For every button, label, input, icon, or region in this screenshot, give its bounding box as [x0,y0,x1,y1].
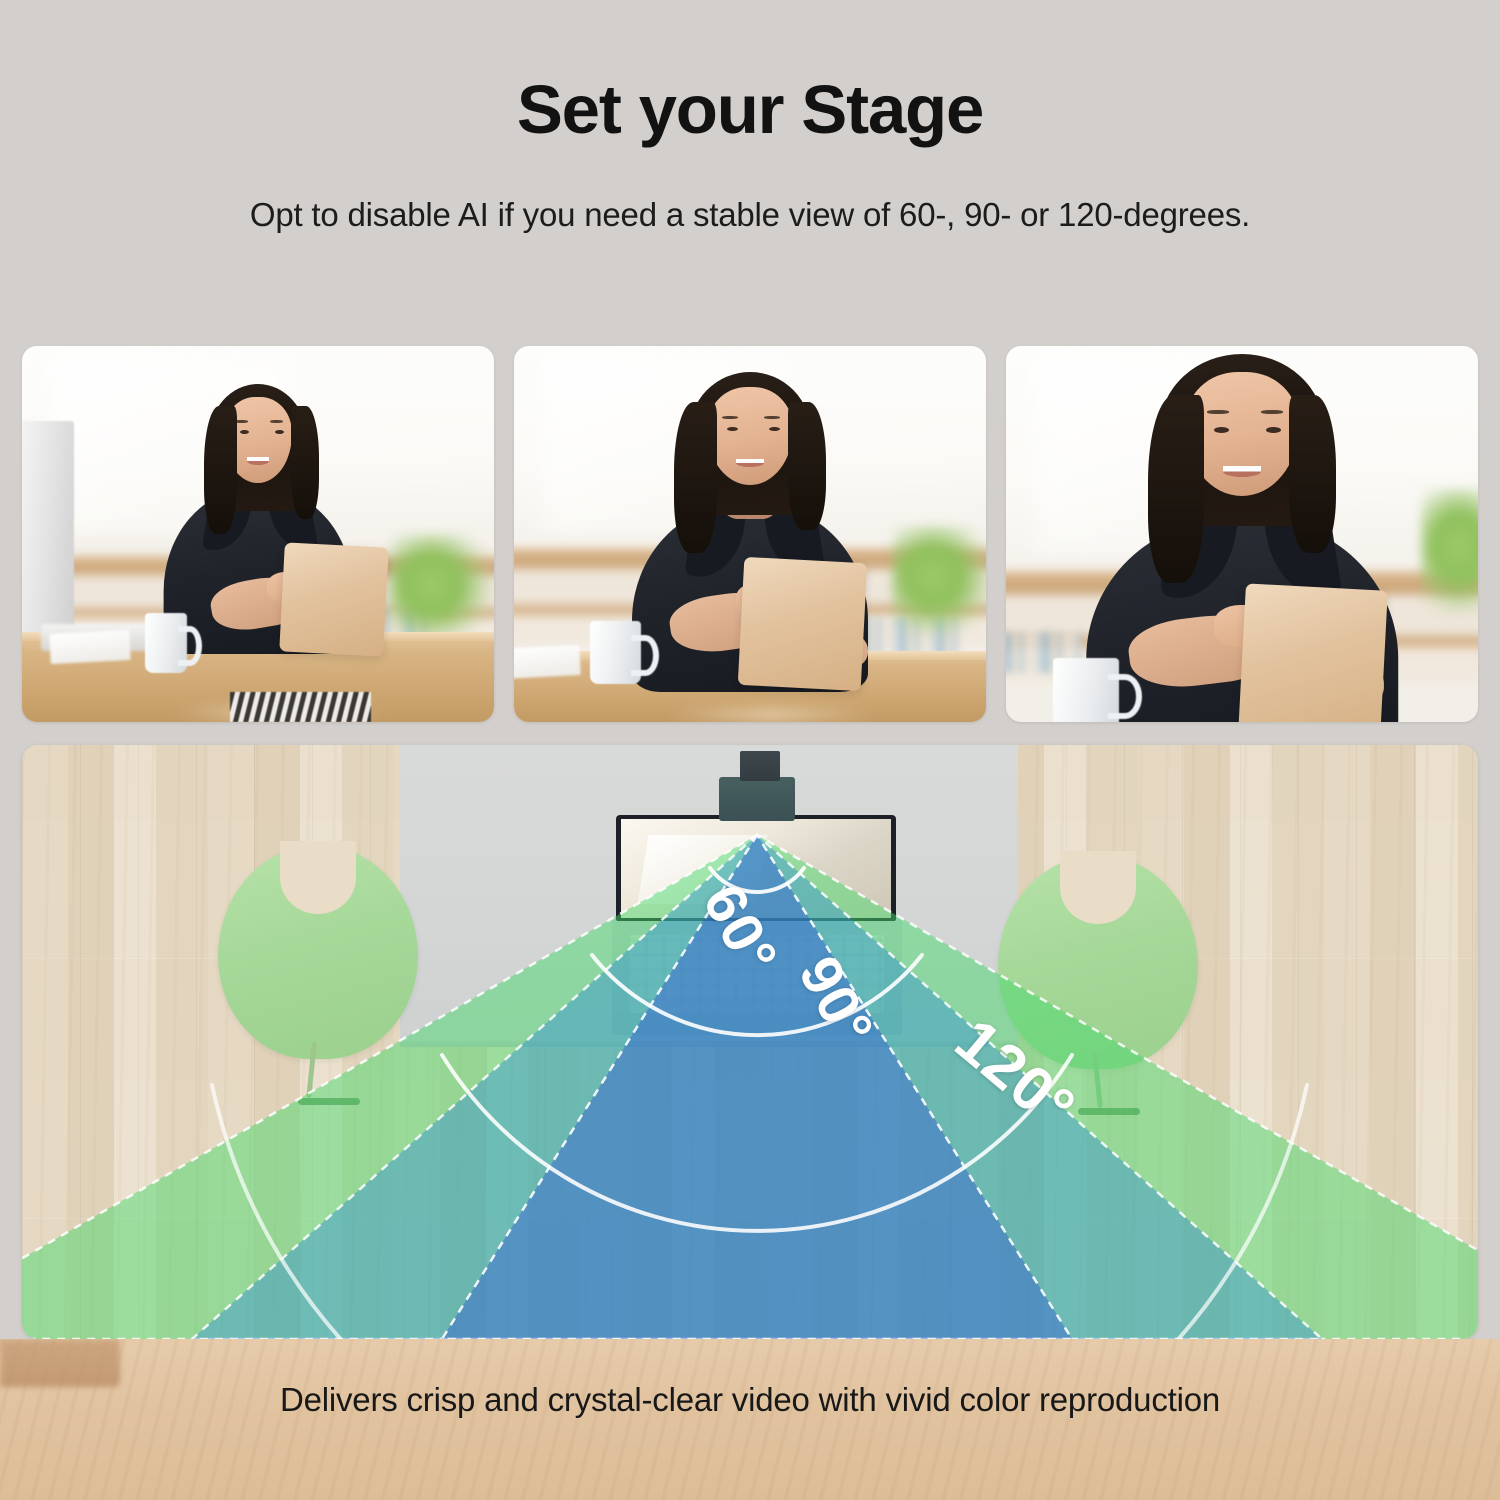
hair-strand-right [291,406,319,519]
fov-thumbnail-row [22,346,1478,722]
mug [145,613,187,673]
office-scene-narrow [1006,346,1478,722]
hair-strand-left [204,406,237,534]
office-scene-medium [514,346,986,722]
mouth [247,457,269,465]
hair-strand-right [1289,395,1336,553]
fov-thumbnail-60[interactable] [1006,346,1478,722]
eye-right [1266,427,1281,433]
hair-strand-right [788,402,826,530]
tablet [279,543,388,657]
eye-left [1214,427,1229,433]
caption-band: Delivers crisp and crystal-clear video w… [0,1339,1500,1500]
brow-left [235,420,248,423]
tablet [1238,583,1387,722]
page-title: Set your Stage [0,74,1500,146]
brow-right [1261,410,1283,414]
person-medium [514,346,986,722]
fov-cone-overlay [22,745,1478,1339]
brow-right [764,416,780,419]
brow-left [1207,410,1229,414]
fov-thumbnail-90[interactable] [514,346,986,722]
bottom-caption: Delivers crisp and crystal-clear video w… [0,1381,1500,1419]
hair-strand-left [674,402,716,552]
hair-strand-left [1148,395,1205,583]
mouth [736,459,764,467]
mug [590,621,642,685]
mug [1053,658,1119,722]
field-of-view-diagram: 60° 90° 120° [22,745,1478,1339]
page-subtitle: Opt to disable AI if you need a stable v… [0,196,1500,234]
brow-left [722,416,738,419]
tablet [737,557,866,691]
office-scene-wide [22,346,494,722]
person-wide [22,346,494,722]
mouth [1223,466,1261,477]
brow-right [270,420,283,423]
page-header: Set your Stage Opt to disable AI if you … [0,0,1500,330]
fov-thumbnail-120[interactable] [22,346,494,722]
